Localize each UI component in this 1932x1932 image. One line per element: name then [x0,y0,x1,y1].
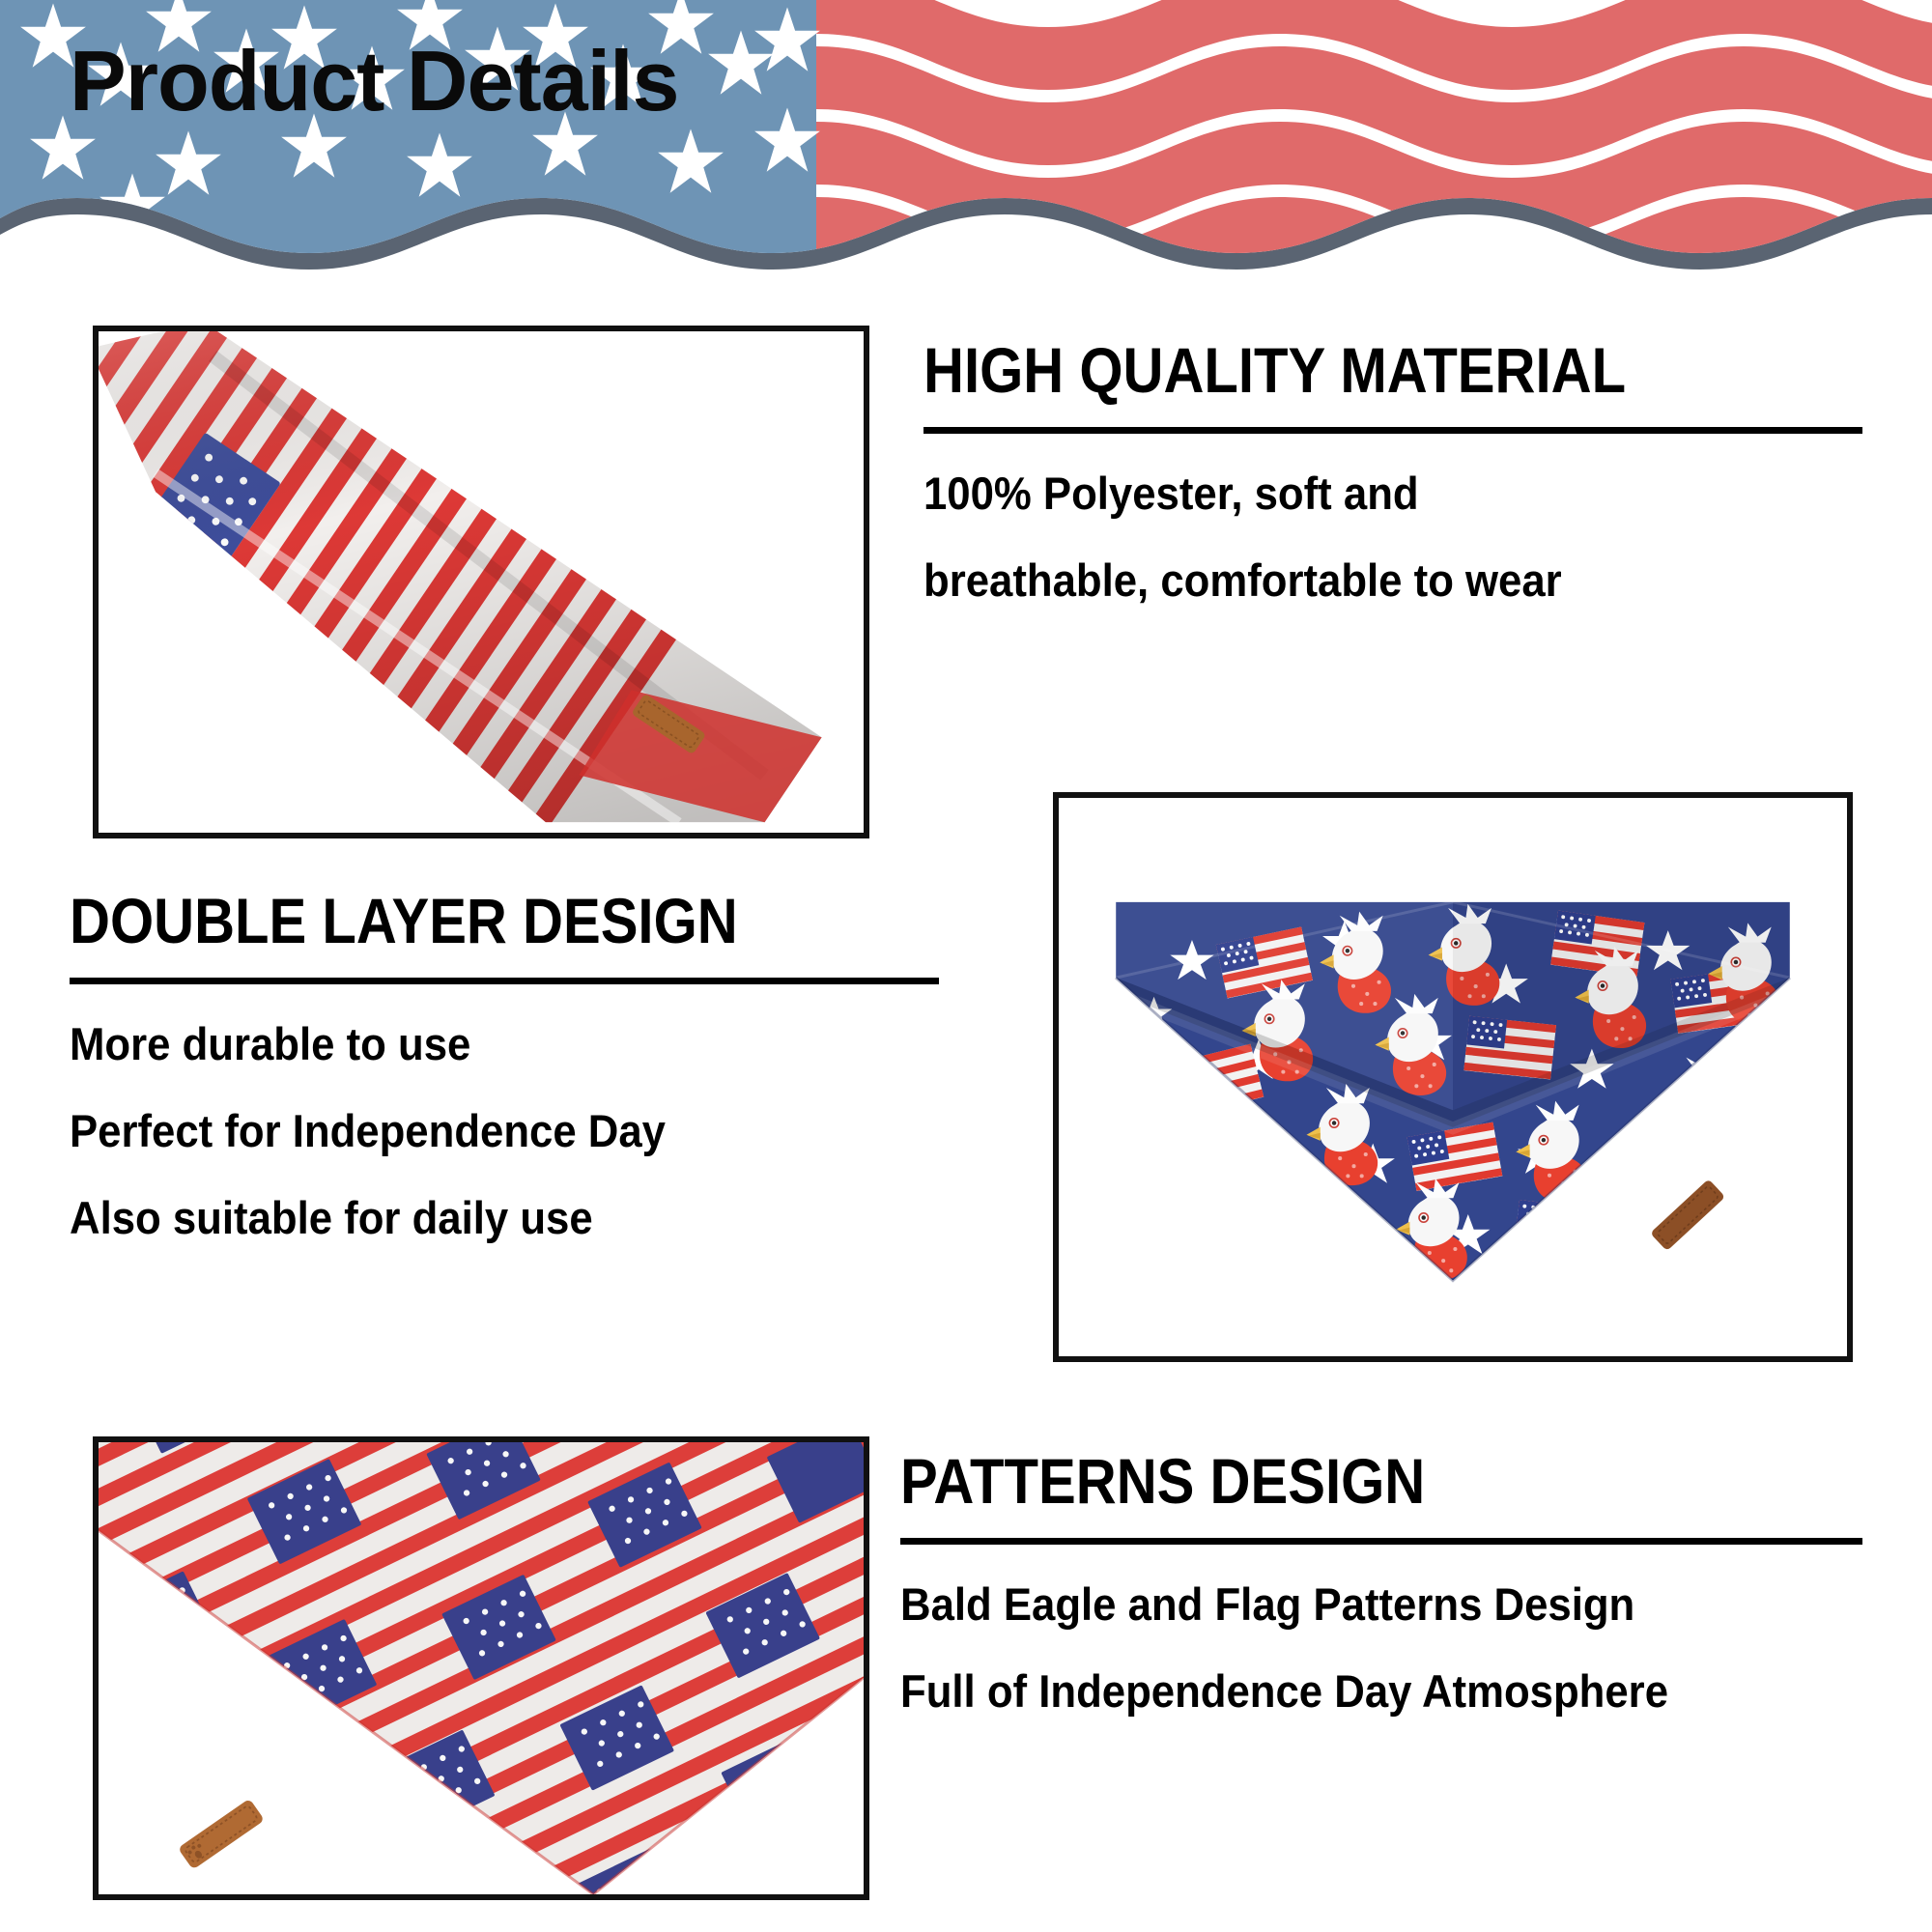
flat-bandana-image [99,1442,864,1894]
section-title: PATTERNS DESIGN [900,1449,1747,1513]
section-line: Bald Eagle and Flag Patterns Design [900,1581,1795,1627]
section-line: breathable, comfortable to wear [923,557,1797,603]
eagle-bandana-image [1059,798,1847,1356]
section-divider [900,1538,1862,1545]
page-title: Product Details [70,37,678,126]
section-double-layer-design: DOUBLE LAYER DESIGN More durable to use … [70,889,939,1240]
section-lines: More durable to use Perfect for Independ… [70,1021,939,1240]
section-lines: Bald Eagle and Flag Patterns Design Full… [900,1581,1862,1714]
section-line: Perfect for Independence Day [70,1108,878,1153]
section-line: Full of Independence Day Atmosphere [900,1668,1795,1714]
section-high-quality-material: HIGH QUALITY MATERIAL 100% Polyester, so… [923,338,1862,603]
section-divider [70,978,939,984]
folded-bandana-image [99,331,864,833]
section-title: HIGH QUALITY MATERIAL [923,338,1749,402]
section-patterns-design: PATTERNS DESIGN Bald Eagle and Flag Patt… [900,1449,1862,1714]
section-line: 100% Polyester, soft and [923,470,1797,516]
section-lines: 100% Polyester, soft and breathable, com… [923,470,1862,603]
product-photo-eagle-bandana[interactable] [1053,792,1853,1362]
section-line: Also suitable for daily use [70,1195,878,1240]
product-photo-flat-bandana[interactable] [93,1436,869,1900]
section-title: DOUBLE LAYER DESIGN [70,889,835,952]
product-photo-folded-bandana[interactable] [93,326,869,838]
section-line: More durable to use [70,1021,878,1066]
header-banner: Product Details [0,0,1932,270]
section-divider [923,427,1862,434]
infographic-page: Product Details [0,0,1932,1932]
